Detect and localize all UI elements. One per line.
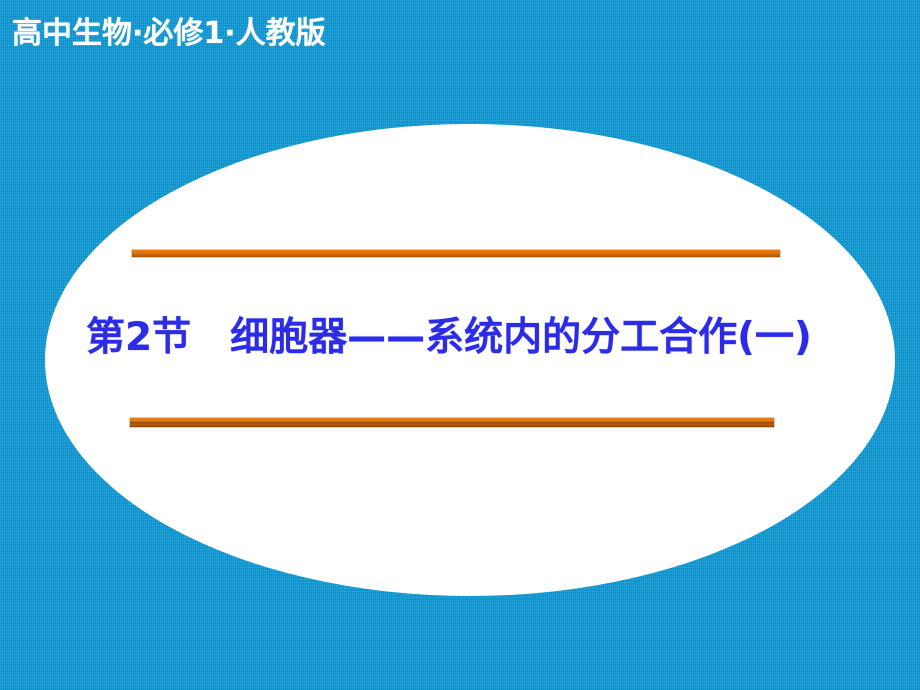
slide-header-subject: 高中生物·必修1·人教版 (12, 14, 326, 54)
slide-title: 第2节 细胞器——系统内的分工合作(一) (86, 312, 846, 364)
presentation-slide: 高中生物·必修1·人教版 第2节 细胞器——系统内的分工合作(一) (0, 0, 920, 690)
divider-rule-top (132, 250, 780, 257)
divider-rule-bottom (130, 418, 774, 427)
